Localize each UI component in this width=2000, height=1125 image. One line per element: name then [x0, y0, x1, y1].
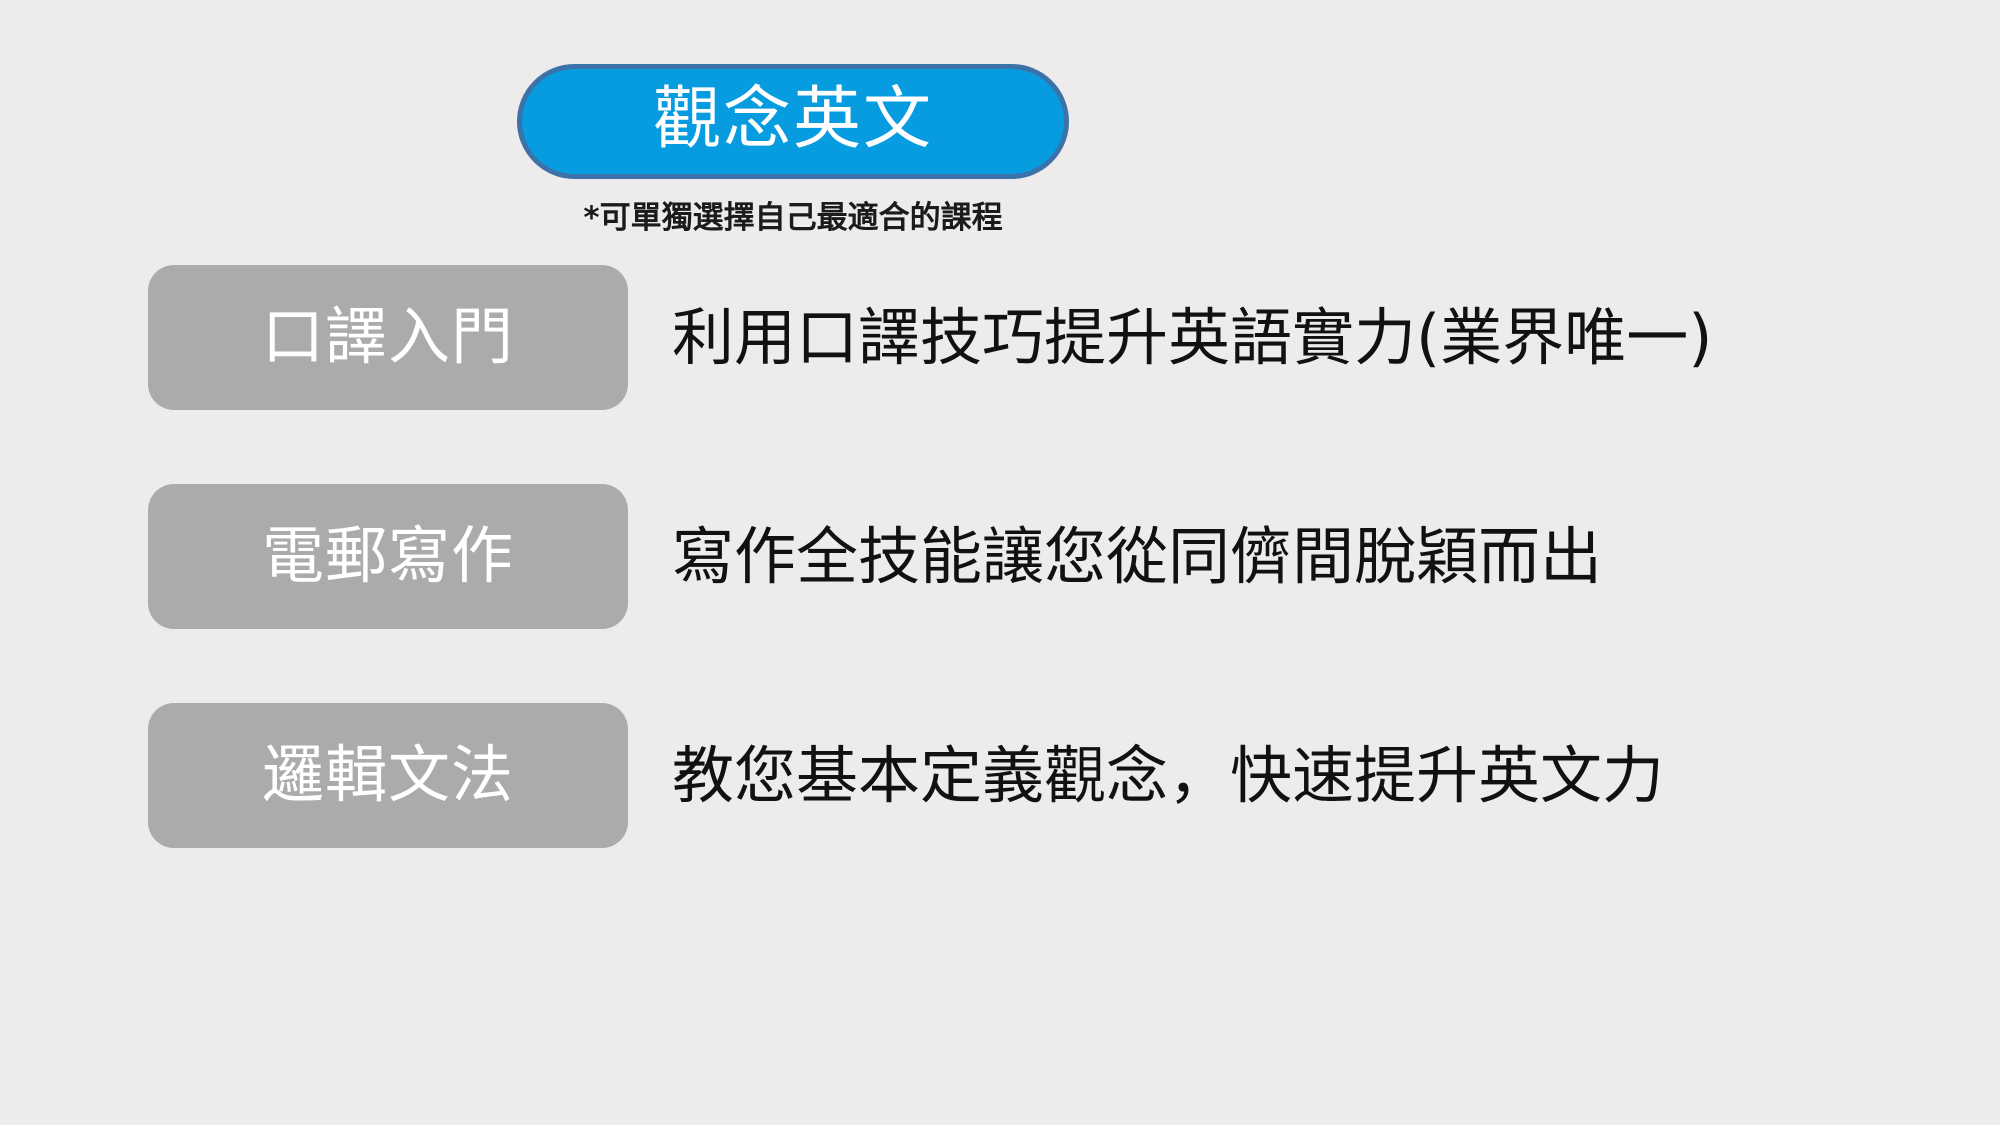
course-badge-label: 口譯入門	[262, 306, 514, 368]
course-badge-interpretation[interactable]: 口譯入門	[148, 265, 628, 410]
course-badge-label: 電郵寫作	[262, 525, 514, 587]
course-badge-label: 邏輯文法	[262, 744, 514, 806]
course-description: 教您基本定義觀念，快速提升英文力	[672, 703, 1664, 848]
section-note: *可單獨選擇自己最適合的課程	[517, 192, 1069, 237]
course-list: 口譯入門 利用口譯技巧提升英語實力(業界唯一) 電郵寫作 寫作全技能讓您從同儕間…	[0, 265, 2000, 922]
course-description: 利用口譯技巧提升英語實力(業界唯一)	[672, 265, 1712, 410]
section-title-label: 觀念英文	[653, 86, 933, 154]
course-row: 口譯入門 利用口譯技巧提升英語實力(業界唯一)	[0, 265, 2000, 410]
course-badge-logical-grammar[interactable]: 邏輯文法	[148, 703, 628, 848]
course-badge-email-writing[interactable]: 電郵寫作	[148, 484, 628, 629]
section-title-pill: 觀念英文	[517, 64, 1069, 179]
course-row: 電郵寫作 寫作全技能讓您從同儕間脫穎而出	[0, 484, 2000, 629]
course-row: 邏輯文法 教您基本定義觀念，快速提升英文力	[0, 703, 2000, 848]
course-overview-poster: 觀念英文 *可單獨選擇自己最適合的課程 口譯入門 利用口譯技巧提升英語實力(業界…	[0, 0, 2000, 1125]
course-description: 寫作全技能讓您從同儕間脫穎而出	[672, 484, 1602, 629]
